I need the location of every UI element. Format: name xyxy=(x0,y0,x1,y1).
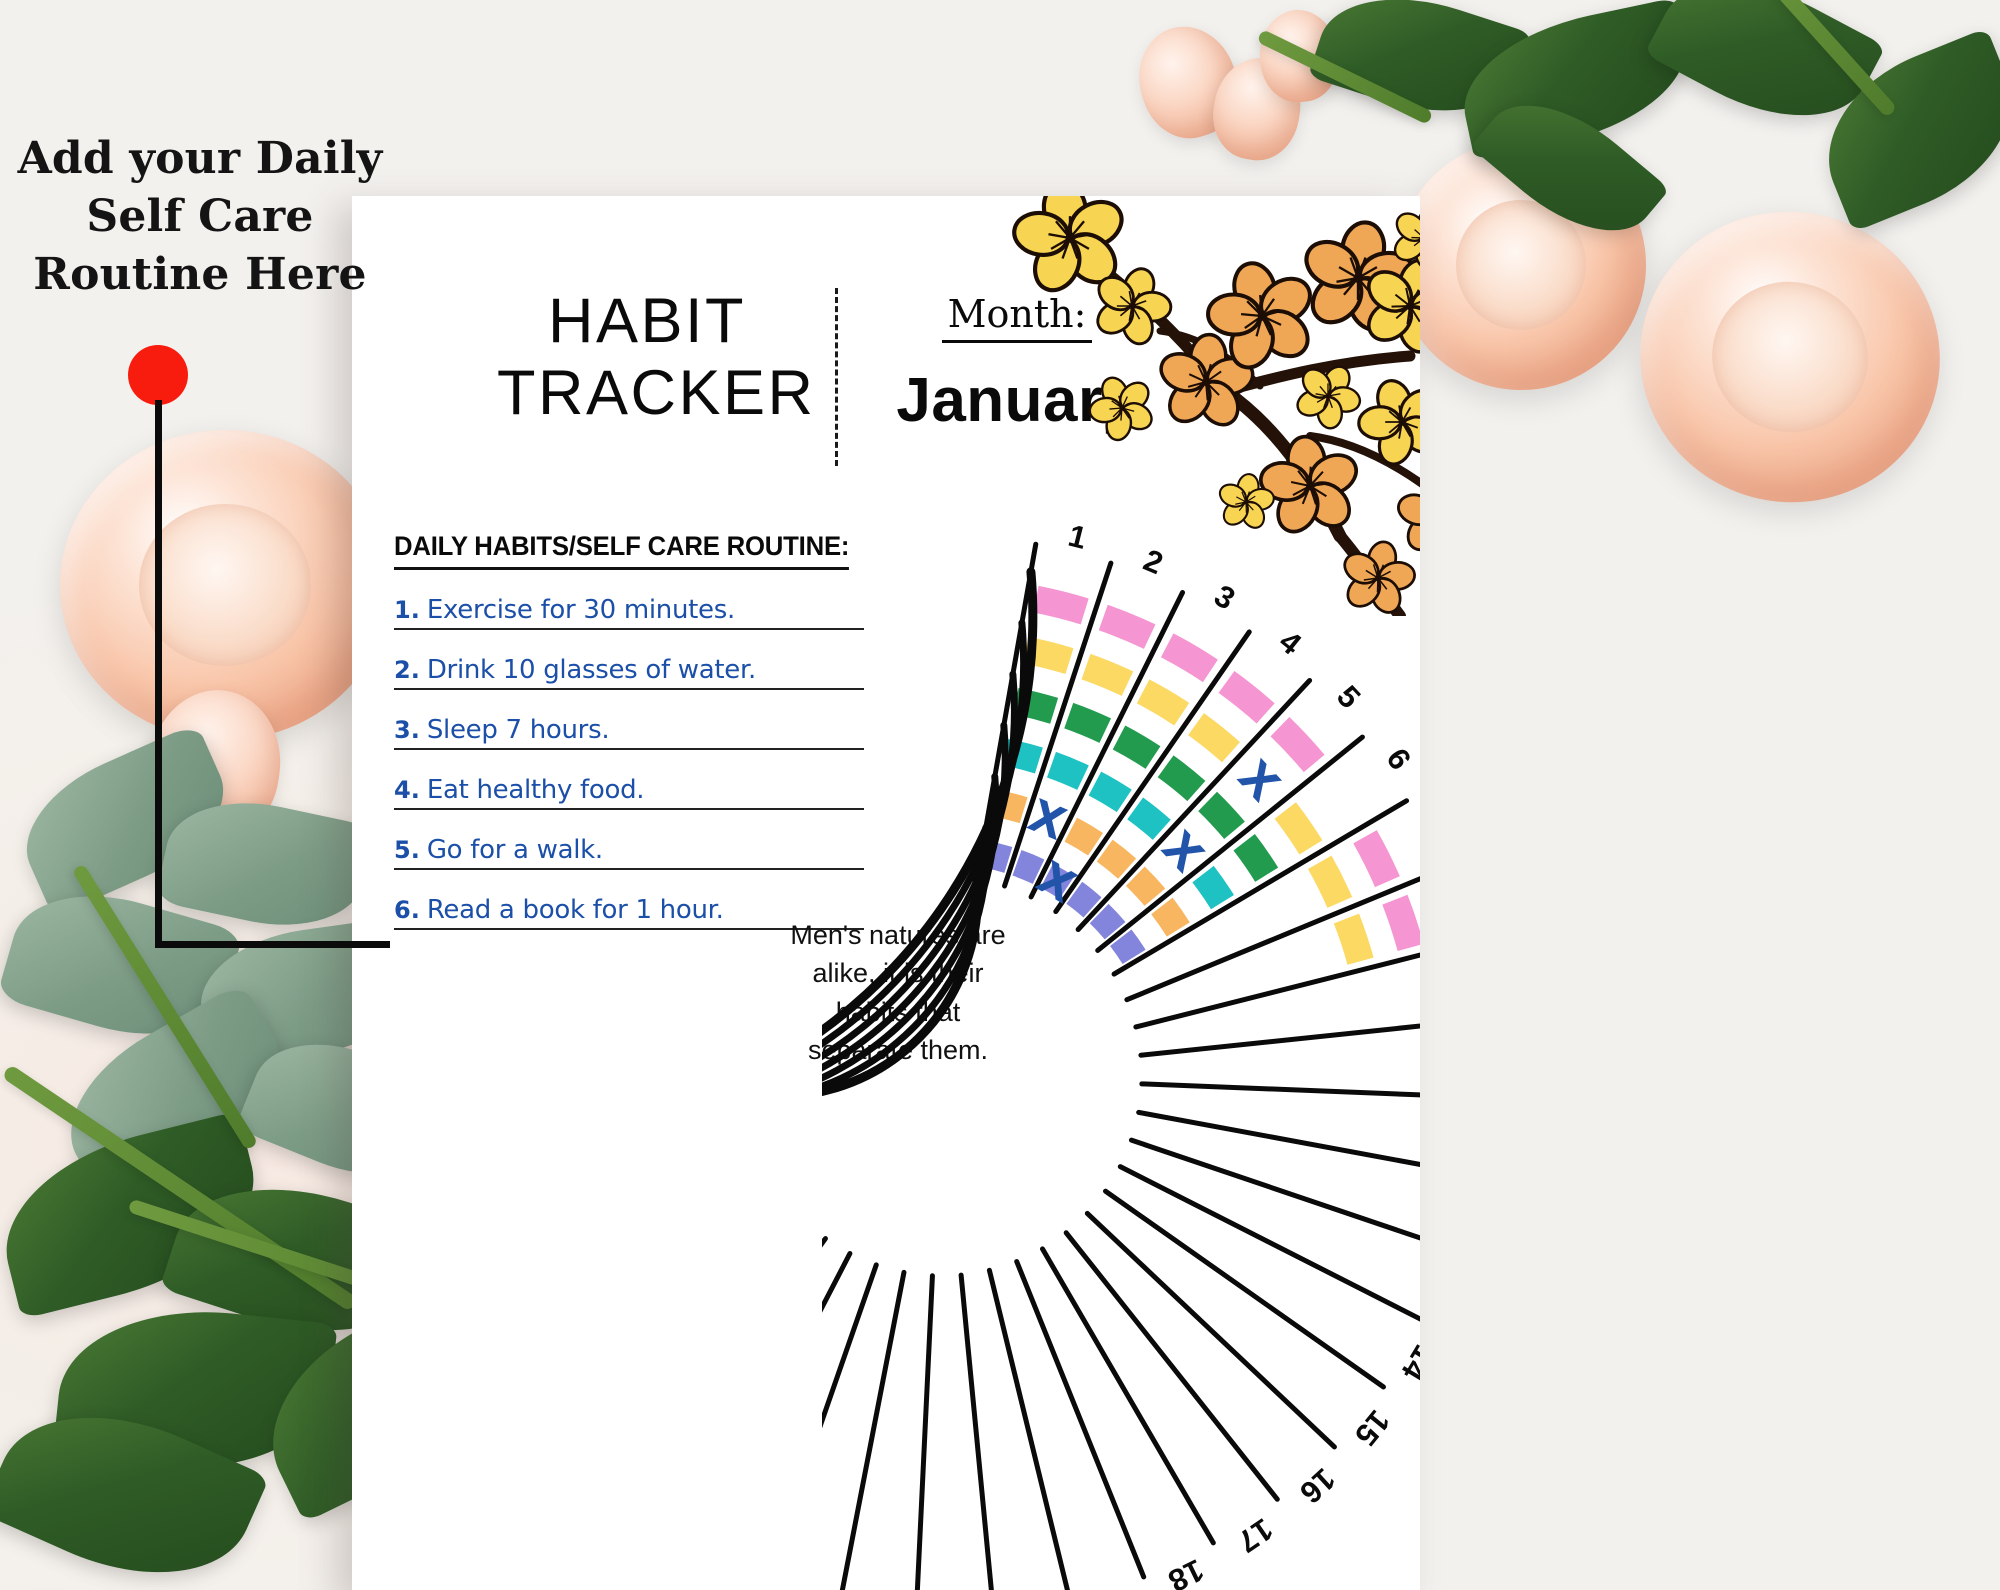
wheel-spoke xyxy=(839,1272,904,1590)
annotation-line-3: Routine Here xyxy=(10,246,390,304)
annotation-text: Add your Daily Self Care Routine Here xyxy=(10,130,390,304)
habit-number: 6. xyxy=(394,896,420,924)
habit-mark-filled xyxy=(1121,938,1134,957)
habit-number: 1. xyxy=(394,596,420,624)
habit-mark-filled xyxy=(1143,691,1182,714)
habit-mark-filled xyxy=(1166,766,1197,791)
habit-tracker-wheel[interactable]: XXXX123456789101112131415161718192021222… xyxy=(822,516,1420,1590)
header-divider xyxy=(835,288,838,466)
wheel-spoke xyxy=(1139,1112,1420,1174)
habit-number: 3. xyxy=(394,716,420,744)
wheel-spoke xyxy=(822,1239,825,1515)
annotation-leader-line-horizontal xyxy=(155,941,390,948)
habit-mark-filled xyxy=(1069,716,1106,731)
habit-text: Sleep 7 hours. xyxy=(427,715,609,745)
wheel-day-label: 19 xyxy=(1090,1583,1134,1590)
habit-text: Go for a walk. xyxy=(427,835,603,865)
habit-text: Eat healthy food. xyxy=(427,775,644,805)
habit-mark-filled xyxy=(1074,893,1092,908)
habit-wheel-chart[interactable]: XXXX123456789101112131415161718192021222… xyxy=(822,516,1420,1590)
habit-mark-filled xyxy=(1346,919,1360,962)
habits-section: DAILY HABITS/SELF CARE ROUTINE: 1.Exerci… xyxy=(394,531,864,930)
habit-mark-filled xyxy=(1036,599,1085,611)
annotation-line-2: Self Care xyxy=(10,188,390,246)
habit-mark-filled xyxy=(1285,810,1311,847)
blossom-icon xyxy=(1077,364,1167,453)
wheel-day-label: 6 xyxy=(1379,742,1418,776)
habit-mark-filled xyxy=(1017,863,1039,872)
page-title: HABIT TRACKER xyxy=(497,286,797,430)
habit-number: 2. xyxy=(394,656,420,684)
habits-list: 1.Exercise for 30 minutes.2.Drink 10 gla… xyxy=(394,595,864,930)
page-title-line-2: TRACKER xyxy=(497,358,797,430)
wheel-day-label: 15 xyxy=(1348,1404,1397,1453)
wheel-day-label: 1 xyxy=(1065,518,1090,556)
habit-text: Read a book for 1 hour. xyxy=(427,895,724,925)
wheel-day-label: 18 xyxy=(1163,1552,1209,1590)
habit-text: Drink 10 glasses of water. xyxy=(427,655,756,685)
annotation-line-1: Add your Daily xyxy=(10,130,390,188)
wheel-day-label: 14 xyxy=(1394,1339,1420,1387)
habit-mark-filled xyxy=(1162,906,1178,930)
habit-mark-filled xyxy=(1103,618,1149,637)
habits-heading: DAILY HABITS/SELF CARE ROUTINE: xyxy=(394,531,849,570)
annotation-dot-marker xyxy=(128,345,188,405)
habit-mark-filled xyxy=(1203,874,1222,902)
page-title-line-1: HABIT xyxy=(497,286,797,358)
habit-mark-filled xyxy=(1167,645,1210,671)
habit-row[interactable]: 2.Drink 10 glasses of water. xyxy=(394,655,864,690)
habit-mark-filled xyxy=(1071,830,1096,845)
wheel-spoke xyxy=(1106,1191,1384,1387)
annotation-leader-line-vertical xyxy=(155,400,162,948)
wheel-day-label: 4 xyxy=(1273,624,1309,663)
habit-row[interactable]: 1.Exercise for 30 minutes. xyxy=(394,595,864,630)
habit-mark-filled xyxy=(1365,837,1387,882)
habit-mark-filled xyxy=(1119,737,1153,757)
habit-number: 5. xyxy=(394,836,420,864)
wheel-spoke xyxy=(822,1265,876,1586)
habit-row[interactable]: 5.Go for a walk. xyxy=(394,835,864,870)
wheel-spoke xyxy=(1142,1084,1420,1097)
habit-mark-filled xyxy=(1208,801,1235,830)
wheel-day-label: 17 xyxy=(1231,1511,1279,1559)
wheel-spoke xyxy=(989,1270,1070,1590)
wheel-day-label: 3 xyxy=(1208,578,1241,617)
wheel-spoke xyxy=(1042,1249,1213,1543)
habit-mark-filled xyxy=(1099,914,1115,931)
habit-mark-filled xyxy=(1086,667,1127,684)
wheel-day-label: 2 xyxy=(1139,542,1168,581)
habit-tracker-sheet: HABIT TRACKER Month: January xyxy=(352,196,1420,1590)
habit-mark-filled xyxy=(1244,842,1267,874)
habit-mark-missed-x: X xyxy=(1233,754,1286,807)
habit-mark-filled xyxy=(1051,765,1083,778)
habit-mark-filled xyxy=(1196,724,1231,752)
wheel-spoke xyxy=(1136,944,1420,1027)
habit-text: Exercise for 30 minutes. xyxy=(427,595,735,625)
sheet-header: HABIT TRACKER Month: January xyxy=(352,196,1420,496)
wheel-spoke xyxy=(961,1275,994,1590)
wheel-day-label: 16 xyxy=(1293,1461,1342,1510)
habit-mark-filled xyxy=(1395,900,1411,948)
habit-mark-filled xyxy=(1135,876,1155,897)
habit-mark-filled xyxy=(1320,862,1340,902)
habit-mark-filled xyxy=(1095,784,1124,801)
habit-mark-filled xyxy=(1135,808,1162,829)
habit-mark-filled xyxy=(1280,727,1314,764)
habit-row[interactable]: 4.Eat healthy food. xyxy=(394,775,864,810)
habit-mark-filled xyxy=(1105,851,1127,869)
wheel-spoke xyxy=(1141,1020,1420,1055)
habit-number: 4. xyxy=(394,776,420,804)
wheel-spoke xyxy=(916,1276,932,1590)
habit-mark-filled xyxy=(1226,682,1265,713)
habit-row[interactable]: 3.Sleep 7 hours. xyxy=(394,715,864,750)
wheel-day-label: 5 xyxy=(1330,679,1367,715)
